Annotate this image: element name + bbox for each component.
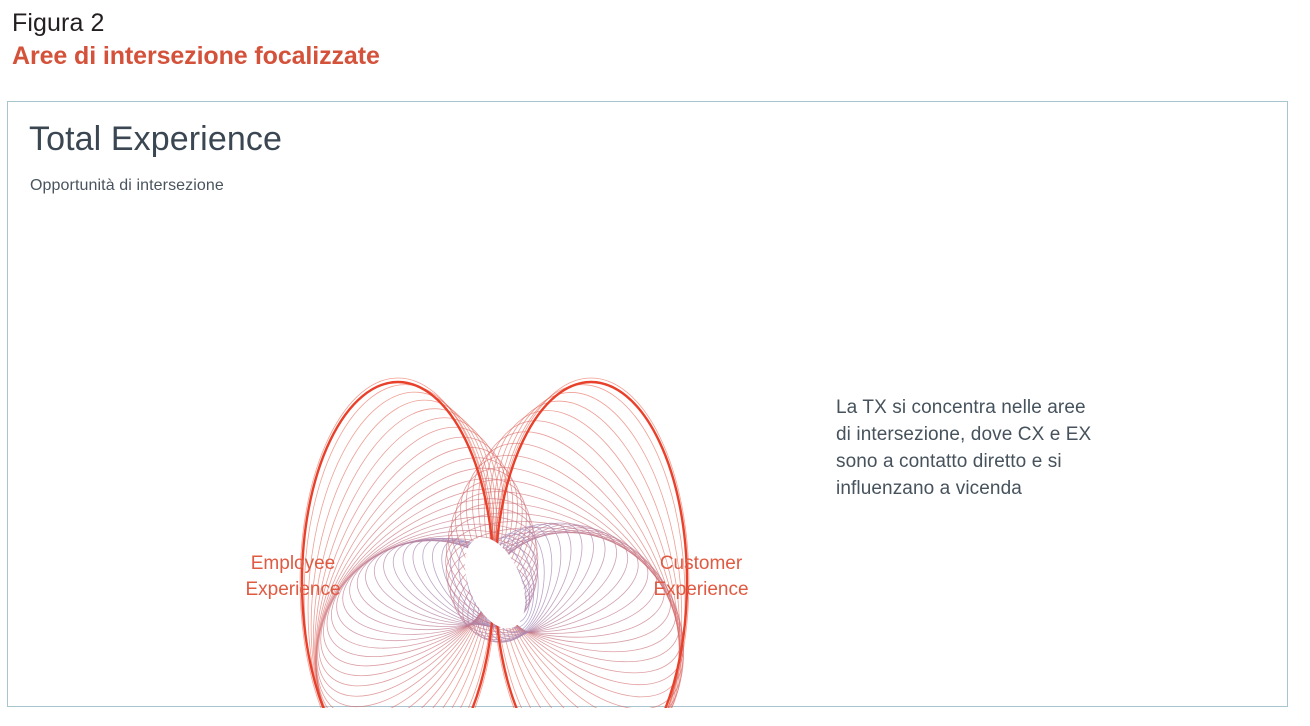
venn-label-employee-experience: EmployeeExperience [245,553,340,600]
figure-heading: Figura 2 Aree di intersezione focalizzat… [12,8,380,72]
venn-label-customer-experience: CustomerExperience [653,553,748,600]
figure-number: Figura 2 [12,8,380,38]
figure-page: Figura 2 Aree di intersezione focalizzat… [0,0,1310,726]
spiral-layer-right [421,378,724,708]
side-note: La TX si concentra nelle aree di interse… [836,394,1166,502]
venn-set-labels: EmployeeExperienceCustomerExperience [245,553,748,600]
card-title: Total Experience [29,118,282,160]
figure-card: Total Experience Opportunità di intersez… [7,101,1288,707]
intersection-hole [453,529,537,637]
figure-title: Aree di intersezione focalizzate [12,40,380,72]
card-subtitle: Opportunità di intersezione [30,175,224,197]
venn-outlines [302,382,687,708]
spiral-layer-left [276,378,562,708]
